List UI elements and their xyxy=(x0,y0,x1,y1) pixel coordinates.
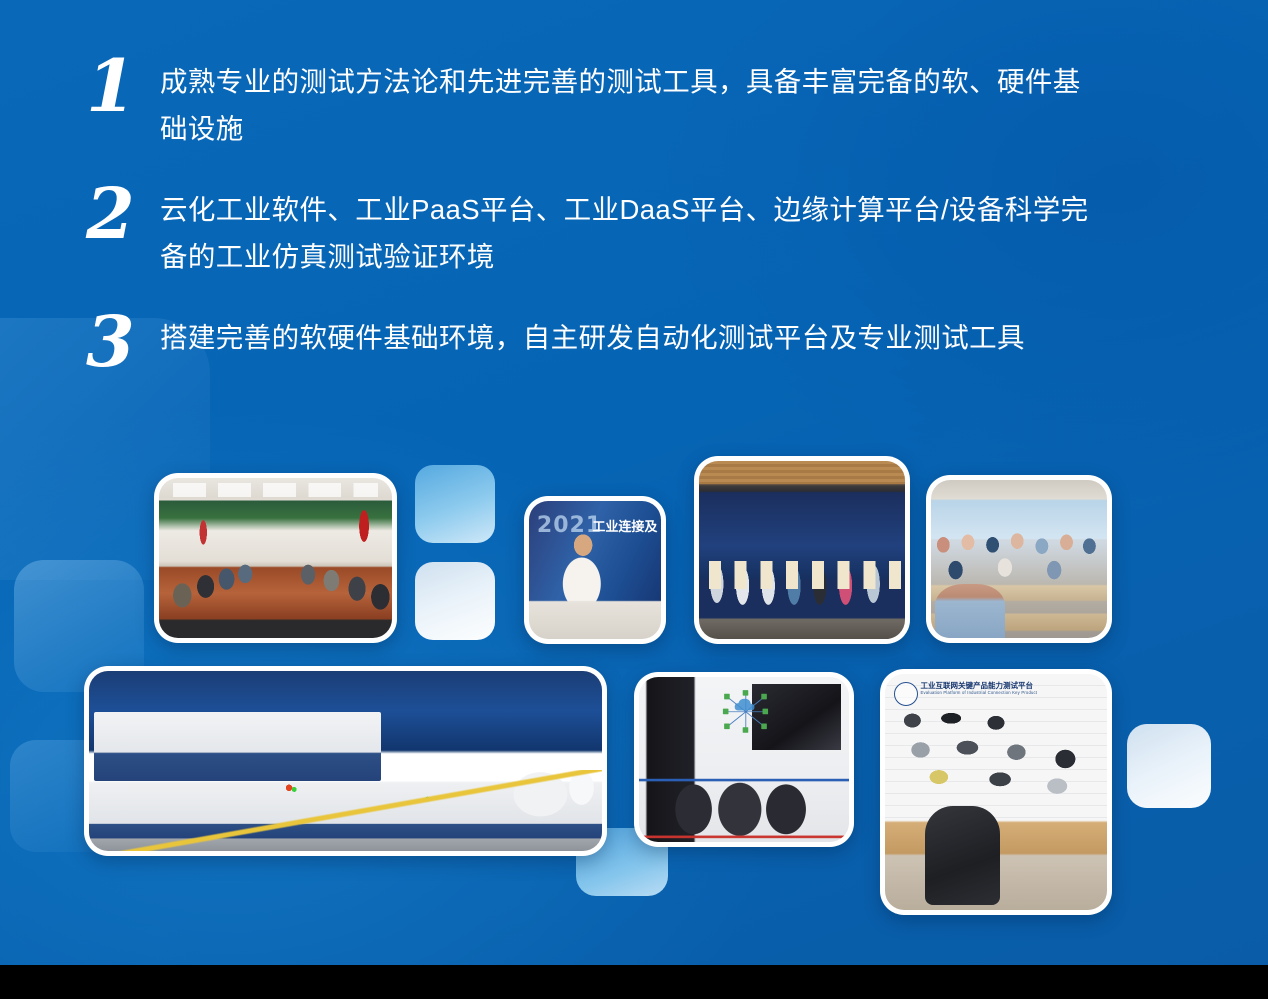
photo-image-production-line xyxy=(89,671,602,851)
institute-seal-icon xyxy=(894,682,918,706)
cloud-network-diagram-icon xyxy=(708,687,784,737)
photo-card-certificates xyxy=(694,456,910,644)
bullet-text-1: 成熟专业的测试方法论和先进完善的测试工具，具备丰富完备的软、硬件基础设施 xyxy=(160,42,1096,152)
photo-card-audience xyxy=(926,475,1112,643)
test-lab-wall-title-cn: 工业互联网关键产品能力测试平台 xyxy=(921,681,1034,690)
bullet-number-2: 2 xyxy=(86,170,160,258)
photo-image-audience xyxy=(931,480,1107,638)
bullet-number-3: 3 xyxy=(86,298,160,386)
photo-card-production-line xyxy=(84,666,607,856)
bullet-text-3: 搭建完善的软硬件基础环境，自主研发自动化测试平台及专业测试工具 xyxy=(160,298,1096,361)
test-lab-wall-title: 工业互联网关键产品能力测试平台 Evaluation Platform of I… xyxy=(921,681,1099,696)
test-lab-wall-title-en: Evaluation Platform of Industrial Connec… xyxy=(921,690,1099,695)
bullet-list: 1 成熟专业的测试方法论和先进完善的测试工具，具备丰富完备的软、硬件基础设施 2… xyxy=(86,42,1096,404)
bullet-item-3: 3 搭建完善的软硬件基础环境，自主研发自动化测试平台及专业测试工具 xyxy=(86,298,1096,386)
bullet-item-1: 1 成熟专业的测试方法论和先进完善的测试工具，具备丰富完备的软、硬件基础设施 xyxy=(86,42,1096,152)
photo-image-test-lab: 工业互联网关键产品能力测试平台 Evaluation Platform of I… xyxy=(885,674,1107,910)
photo-card-control-wall xyxy=(634,672,854,847)
bullet-number-1: 1 xyxy=(86,42,160,130)
bullet-item-2: 2 云化工业软件、工业PaaS平台、工业DaaS平台、边缘计算平台/设备科学完备… xyxy=(86,170,1096,280)
photo-card-speaker xyxy=(524,496,666,644)
slide-root: 1 成熟专业的测试方法论和先进完善的测试工具，具备丰富完备的软、硬件基础设施 2… xyxy=(0,0,1268,999)
photo-card-meeting xyxy=(154,473,397,643)
photo-image-speaker xyxy=(529,501,661,639)
bullet-text-2: 云化工业软件、工业PaaS平台、工业DaaS平台、边缘计算平台/设备科学完备的工… xyxy=(160,170,1096,280)
photo-card-test-lab: 工业互联网关键产品能力测试平台 Evaluation Platform of I… xyxy=(880,669,1112,915)
photo-image-control-wall xyxy=(639,677,849,842)
bottom-letterbox-bar xyxy=(0,965,1268,999)
photo-image-certificates xyxy=(699,461,905,639)
photo-image-meeting xyxy=(159,478,392,638)
